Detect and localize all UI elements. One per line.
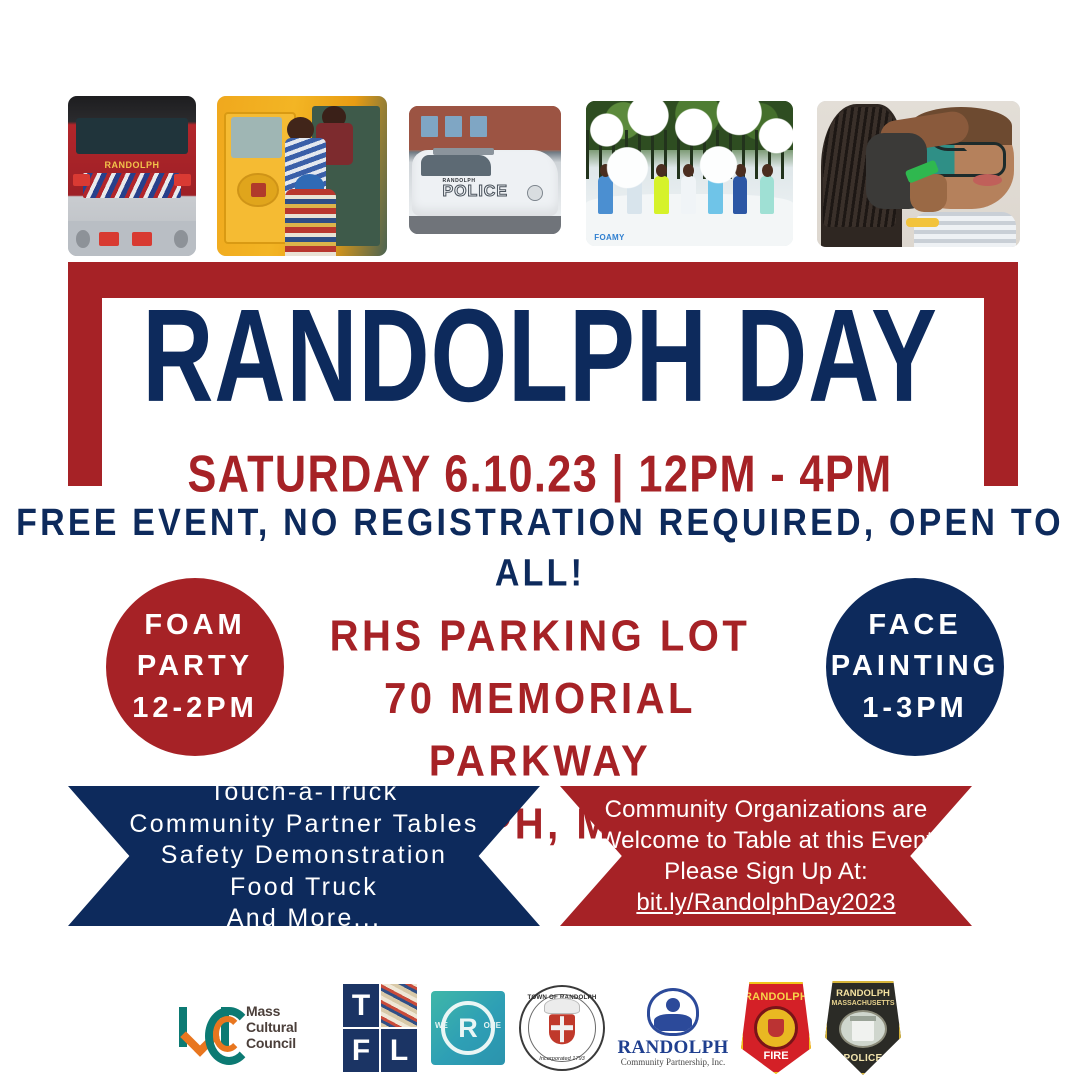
rcp-name-text: RANDOLPH (617, 1038, 728, 1057)
activity-item-3: Safety Demonstration (161, 840, 447, 872)
town-of-randolph-seal: TOWN OF RANDOLPH Incorporated 1793 (519, 985, 605, 1071)
foam-party-photo: FOAMY (586, 101, 793, 246)
sponsor-logo-row: Mass Cultural Council T F L WE R ONE TOW… (0, 978, 1080, 1078)
mcc-line-2: Cultural (246, 1020, 297, 1036)
randolph-community-partnership-logo: RANDOLPH Community Partnership, Inc. (619, 988, 727, 1068)
tfl-letter-t: T (343, 984, 379, 1027)
activity-item-5: And More... (227, 903, 382, 935)
mass-cultural-council-logo: Mass Cultural Council (179, 997, 329, 1059)
we-r-one-one-text: ONE (484, 1021, 501, 1030)
police-badge-building-icon (839, 1010, 887, 1048)
signup-line-1: Community Organizations are (605, 794, 928, 825)
mcc-line-1: Mass (246, 1004, 297, 1020)
address-line-1: RHS PARKING LOT (290, 605, 790, 668)
signup-line-3: Please Sign Up At: (664, 856, 868, 887)
randolph-police-badge-logo: RANDOLPH MASSACHUSETTS POLICE (825, 981, 901, 1075)
tfl-letter-l: L (381, 1029, 417, 1072)
police-car-label: POLICE (442, 183, 508, 201)
fire-badge-emblem-icon (754, 1006, 798, 1050)
randolph-fire-badge-logo: RANDOLPH FIRE (741, 982, 811, 1074)
signup-ribbon: Community Organizations are Welcome to T… (560, 786, 972, 926)
foam-badge-line-1: FOAM (144, 605, 245, 646)
police-badge-top-text: RANDOLPH (836, 989, 890, 1000)
admission-line-1: FREE EVENT, NO REGISTRATION REQUIRED, (16, 501, 876, 544)
seal-crest-icon (544, 998, 580, 1014)
face-badge-line-2: PAINTING (831, 646, 999, 687)
face-badge-line-1: FACE (868, 605, 961, 646)
foam-party-watermark: FOAMY (594, 233, 624, 242)
face-painting-badge: FACE PAINTING 1-3PM (826, 578, 1004, 756)
activity-item-4: Food Truck (230, 872, 378, 904)
foam-party-badge: FOAM PARTY 12-2PM (106, 578, 284, 756)
foam-badge-line-2: PARTY (137, 646, 253, 687)
fire-badge-top-text: RANDOLPH (744, 991, 808, 1003)
we-r-one-r-text: R (458, 1015, 478, 1042)
foam-badge-line-3: 12-2PM (132, 688, 258, 729)
event-date-time: SATURDAY 6.10.23 | 12PM - 4PM (43, 443, 1037, 504)
mcc-line-3: Council (246, 1036, 297, 1052)
tfl-books-icon (381, 984, 417, 1027)
police-car-photo: RANDOLPH POLICE (409, 106, 561, 234)
fire-truck-photo: RANDOLPH (68, 96, 196, 256)
rcp-mark-icon (647, 988, 699, 1036)
fire-badge-bottom-text: FIRE (763, 1050, 788, 1062)
police-badge-bottom-text: POLICE (843, 1053, 882, 1064)
school-bus-photo (217, 96, 387, 256)
face-badge-line-3: 1-3PM (862, 688, 967, 729)
activity-item-2: Community Partner Tables (129, 809, 478, 841)
tfl-letter-f: F (343, 1029, 379, 1072)
turner-free-library-logo: T F L (343, 984, 417, 1072)
photo-strip: RANDOLPH RANDOLPH POLICE FO (68, 96, 1018, 256)
rcp-sub-text: Community Partnership, Inc. (621, 1057, 726, 1068)
seal-bottom-text: Incorporated 1793 (521, 1056, 603, 1062)
seal-shield-icon (549, 1014, 575, 1044)
fire-truck-label: RANDOLPH (105, 160, 160, 170)
signup-link[interactable]: bit.ly/RandolphDay2023 (636, 887, 895, 918)
signup-line-2: Welcome to Table at this Event (599, 825, 934, 856)
activities-ribbon: Touch-a-Truck Community Partner Tables S… (68, 786, 540, 926)
mcc-mark-icon (179, 1005, 239, 1051)
address-line-2: 70 MEMORIAL PARKWAY (290, 668, 790, 793)
we-r-one-logo: WE R ONE (431, 991, 505, 1065)
face-painting-photo (817, 101, 1020, 247)
page-title: RANDOLPH DAY (65, 290, 1015, 422)
mcc-wordmark: Mass Cultural Council (246, 1004, 297, 1051)
police-badge-state-text: MASSACHUSETTS (831, 1000, 894, 1007)
we-r-one-we-text: WE (435, 1021, 448, 1030)
